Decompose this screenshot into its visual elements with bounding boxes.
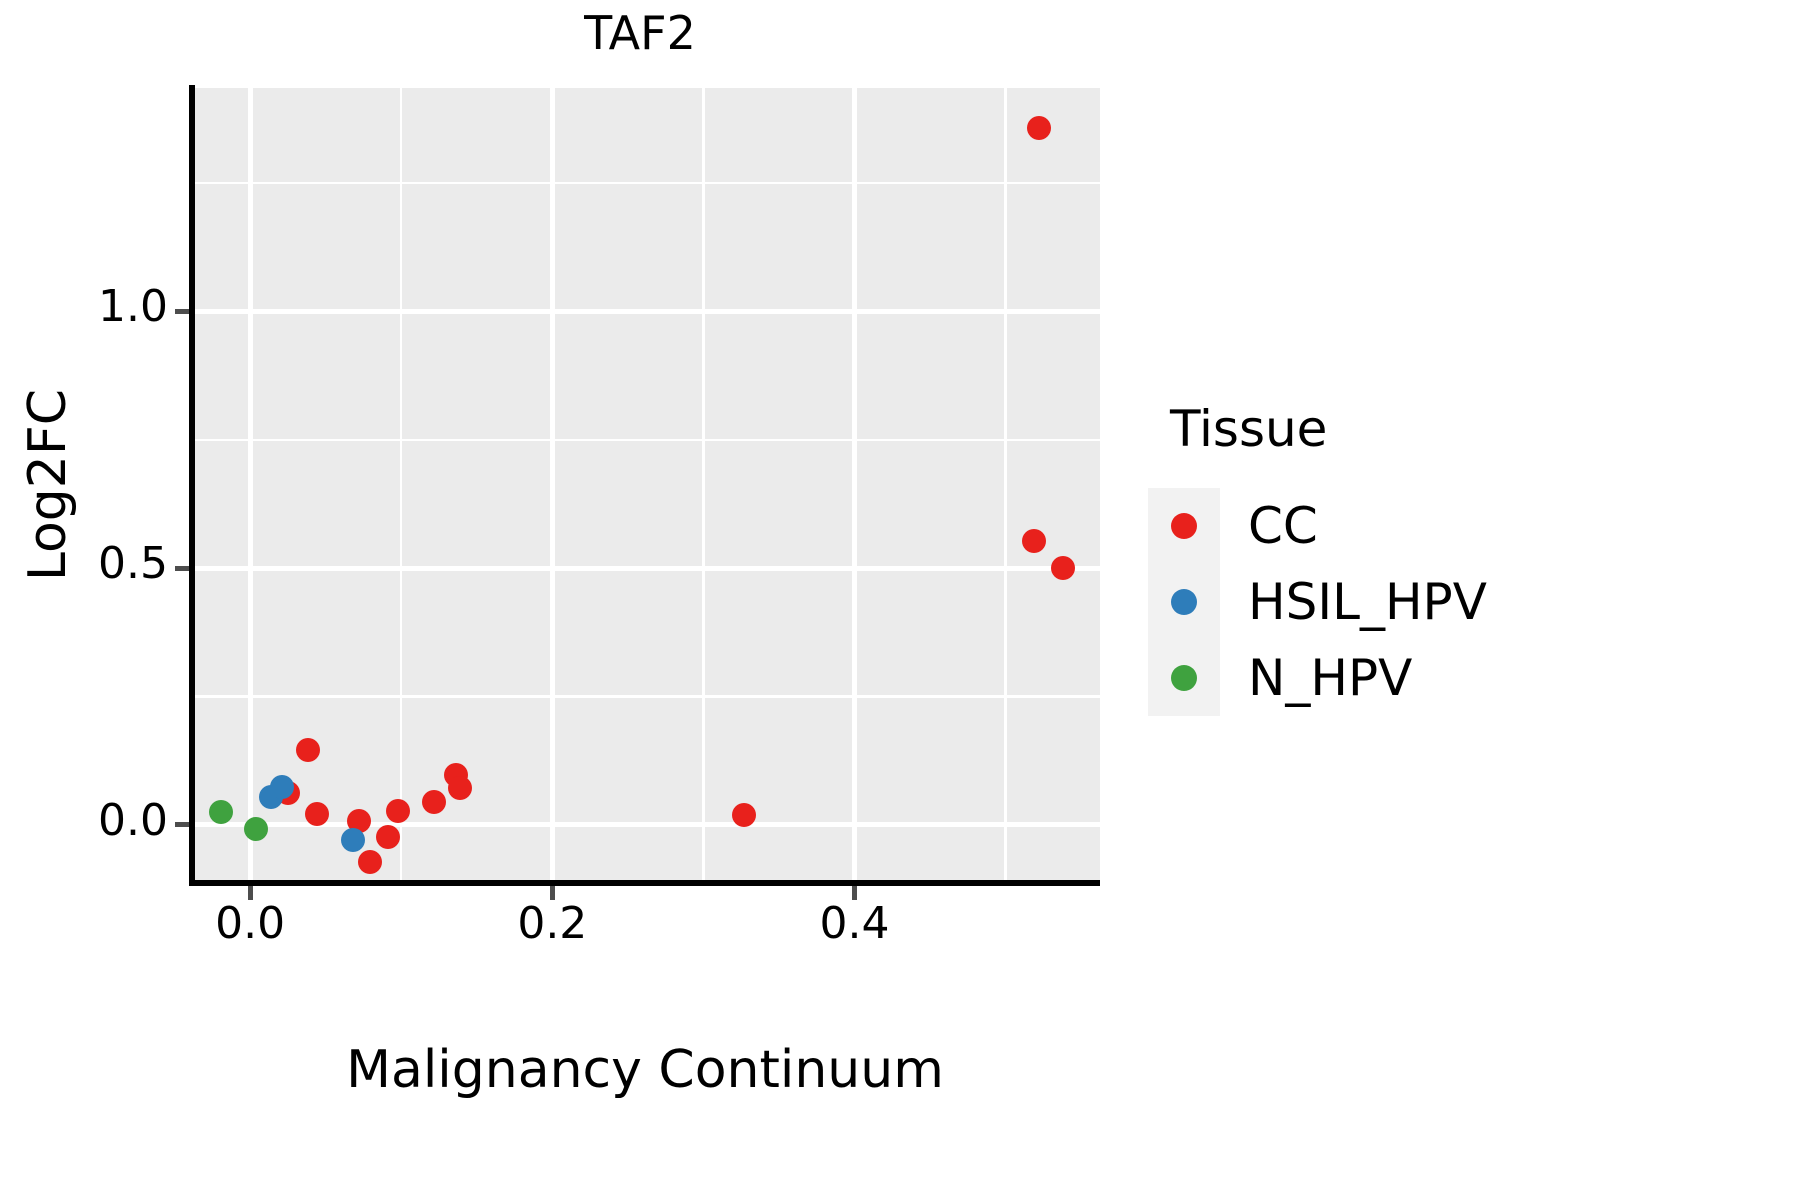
legend-item-cc[interactable]: CC [1148,488,1648,564]
x-axis-line [189,880,1100,886]
scatter-point-cc [376,825,400,849]
gridline-minor-horizontal [195,695,1100,698]
y-axis-line [189,85,195,886]
legend-dot-icon [1171,665,1197,691]
gridline-minor-vertical [702,88,705,883]
y-axis-tick-label: 0.0 [98,795,168,846]
y-axis-title: Log2FC [18,175,78,795]
y-axis-tick-label: 1.0 [98,281,168,332]
legend-item-n_hpv[interactable]: N_HPV [1148,640,1648,716]
scatter-point-cc [1022,529,1046,553]
scatter-point-n_hpv [209,800,233,824]
scatter-point-cc [305,802,329,826]
gridline-minor-vertical [400,88,403,883]
scatter-point-hsil_hpv [341,828,365,852]
scatter-point-cc [358,850,382,874]
legend-item-label: N_HPV [1248,649,1412,707]
legend: Tissue CCHSIL_HPVN_HPV [1148,400,1648,716]
scatter-point-hsil_hpv [270,775,294,799]
chart-title: TAF2 [0,8,1280,59]
y-axis-tick [175,822,189,827]
gridline-major-horizontal [195,566,1100,571]
scatter-point-cc [386,799,410,823]
gridline-major-horizontal [195,822,1100,827]
x-axis-title: Malignancy Continuum [0,1040,1290,1100]
scatter-point-n_hpv [244,817,268,841]
legend-key-swatch [1148,564,1220,640]
legend-key-swatch [1148,488,1220,564]
legend-item-label: HSIL_HPV [1248,573,1487,631]
gridline-minor-horizontal [195,439,1100,442]
y-axis-tick [175,566,189,571]
legend-key-swatch [1148,640,1220,716]
gridline-major-vertical [248,88,253,883]
scatter-point-cc [448,776,472,800]
gridline-major-vertical [550,88,555,883]
legend-dot-icon [1171,589,1197,615]
plot-panel [195,88,1100,883]
gridline-major-vertical [852,88,857,883]
gridline-minor-vertical [1004,88,1007,883]
y-axis-tick-label: 0.5 [98,538,168,589]
legend-title: Tissue [1170,400,1648,458]
scatter-point-cc [1051,556,1075,580]
x-axis-tick-label: 0.0 [215,898,285,949]
legend-item-hsil_hpv[interactable]: HSIL_HPV [1148,564,1648,640]
gridline-major-horizontal [195,309,1100,314]
scatter-point-cc [422,790,446,814]
scatter-point-cc [732,803,756,827]
legend-dot-icon [1171,513,1197,539]
y-axis-tick [175,309,189,314]
legend-item-label: CC [1248,497,1318,555]
scatter-point-cc [296,738,320,762]
x-axis-tick-label: 0.2 [517,898,587,949]
gridline-minor-horizontal [195,182,1100,185]
legend-rows: CCHSIL_HPVN_HPV [1148,488,1648,716]
scatter-point-cc [1027,116,1051,140]
x-axis-tick-label: 0.4 [819,898,889,949]
